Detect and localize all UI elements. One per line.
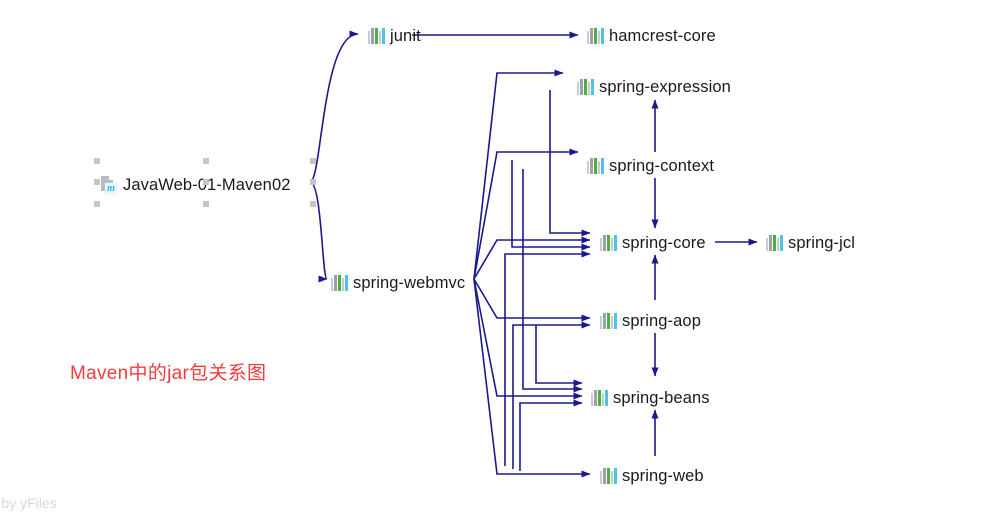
jar-icon xyxy=(600,235,617,251)
yfiles-watermark: ed by yFiles xyxy=(0,495,57,511)
jar-icon xyxy=(331,275,348,291)
jar-icon xyxy=(368,28,385,44)
node-label: spring-webmvc xyxy=(353,271,465,295)
diagram-caption: Maven中的jar包关系图 xyxy=(70,358,266,385)
edge-root-to-spring-webmvc[interactable] xyxy=(310,182,327,279)
graph-canvas[interactable]: mJavaWeb-01-Maven02junithamcrest-corespr… xyxy=(0,0,989,520)
node-spring-aop[interactable]: spring-aop xyxy=(600,309,701,333)
selection-handle[interactable] xyxy=(94,201,100,207)
edge-spring-webmvc-to-spring-aop[interactable] xyxy=(474,279,590,318)
edge-spring-webmvc-to-spring-web[interactable] xyxy=(474,279,590,474)
selection-handle[interactable] xyxy=(310,158,316,164)
edge-spring-webmvc-to-spring-core[interactable] xyxy=(474,240,590,279)
node-label: spring-web xyxy=(622,464,704,488)
jar-icon xyxy=(766,235,783,251)
node-label: spring-expression xyxy=(599,75,731,99)
node-spring-beans[interactable]: spring-beans xyxy=(591,386,710,410)
edge-spring-expression-to-spring-core[interactable] xyxy=(550,90,590,233)
edge-spring-aop-to-spring-beans[interactable] xyxy=(536,325,582,383)
selection-handle[interactable] xyxy=(310,201,316,207)
node-label: spring-core xyxy=(622,231,706,255)
jar-icon xyxy=(587,158,604,174)
edge-root-to-junit[interactable] xyxy=(310,34,358,182)
node-label: junit xyxy=(390,24,421,48)
node-spring-context[interactable]: spring-context xyxy=(587,154,714,178)
node-root[interactable]: mJavaWeb-01-Maven02 xyxy=(100,173,291,197)
node-spring-webmvc[interactable]: spring-webmvc xyxy=(331,271,465,295)
node-label: spring-jcl xyxy=(788,231,855,255)
edge-spring-context-to-spring-beans[interactable] xyxy=(523,169,582,389)
node-label: spring-aop xyxy=(622,309,701,333)
selection-handle[interactable] xyxy=(203,201,209,207)
edge-spring-webmvc-to-spring-context[interactable] xyxy=(474,152,578,279)
jar-icon xyxy=(600,313,617,329)
edge-spring-web-to-spring-core[interactable] xyxy=(505,254,590,466)
node-spring-core[interactable]: spring-core xyxy=(600,231,706,255)
node-label: JavaWeb-01-Maven02 xyxy=(123,173,291,197)
node-label: spring-context xyxy=(609,154,714,178)
node-spring-expression[interactable]: spring-expression xyxy=(577,75,731,99)
edge-spring-web-to-spring-aop[interactable] xyxy=(513,325,590,469)
maven-project-icon: m xyxy=(100,176,118,195)
edge-spring-web-to-spring-beans[interactable] xyxy=(520,403,582,471)
jar-icon xyxy=(587,28,604,44)
selection-handle[interactable] xyxy=(94,179,100,185)
node-label: spring-beans xyxy=(613,386,710,410)
edge-layer xyxy=(0,0,989,520)
node-hamcrest-core[interactable]: hamcrest-core xyxy=(587,24,716,48)
jar-icon xyxy=(591,390,608,406)
selection-handle[interactable] xyxy=(203,158,209,164)
node-spring-jcl[interactable]: spring-jcl xyxy=(766,231,855,255)
selection-handle[interactable] xyxy=(203,179,209,185)
edge-spring-webmvc-to-spring-beans[interactable] xyxy=(474,279,582,396)
node-spring-web[interactable]: spring-web xyxy=(600,464,704,488)
node-label: hamcrest-core xyxy=(609,24,716,48)
selection-handle[interactable] xyxy=(94,158,100,164)
jar-icon xyxy=(600,468,617,484)
edge-spring-context-to-spring-core[interactable] xyxy=(512,160,590,247)
jar-icon xyxy=(577,79,594,95)
selection-handle[interactable] xyxy=(310,179,316,185)
edge-spring-webmvc-to-spring-expression[interactable] xyxy=(474,73,563,279)
node-junit[interactable]: junit xyxy=(368,24,421,48)
